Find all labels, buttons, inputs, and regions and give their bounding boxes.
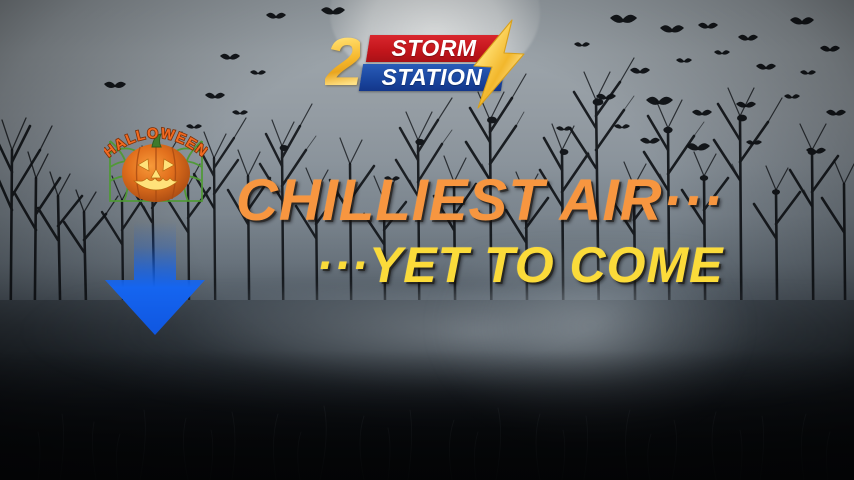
weather-graphic-fullscreen: 2 STORM STATION — [0, 0, 854, 480]
lightning-bolt-icon — [468, 18, 530, 110]
channel-number: 2 — [325, 28, 360, 96]
station-logo[interactable]: 2 STORM STATION — [325, 22, 530, 104]
halloween-badge[interactable]: HALLOWEEN — [104, 113, 208, 209]
down-arrow-icon — [103, 222, 207, 337]
